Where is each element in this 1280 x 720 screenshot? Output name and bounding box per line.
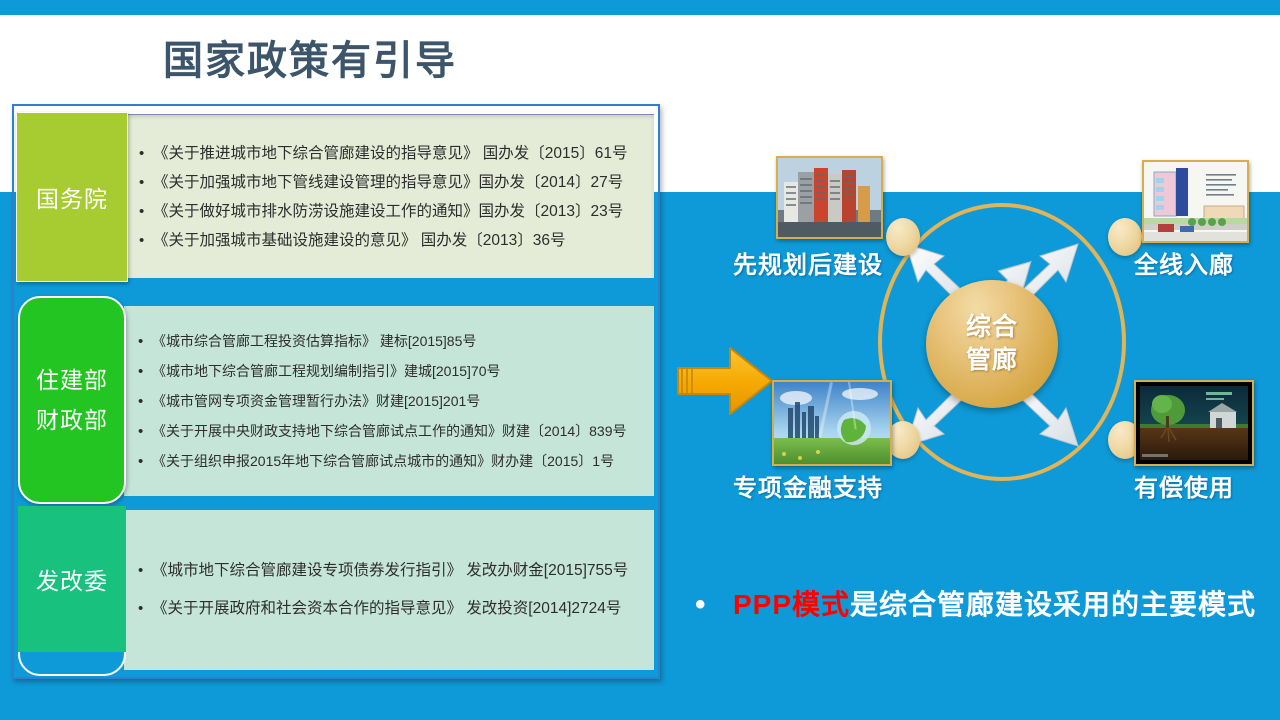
diagram-center-circle: 综合 管廊 <box>926 280 1058 408</box>
cycle-diagram: 综合 管廊 <box>690 140 1280 540</box>
policy-tab-label: 发改委 <box>36 562 108 596</box>
policy-item-text: 《关于做好城市排水防涝设施建设工作的通知》国办发〔2013〕23号 <box>153 197 623 226</box>
list-item: •《城市地下综合管廊建设专项债券发行指引》 发改办财金[2015]755号 <box>138 552 648 590</box>
thumbnail-underground-soil-scene <box>1134 380 1254 466</box>
policy-item-text: 《关于加强城市地下管线建设管理的指导意见》国办发〔2014〕27号 <box>153 168 623 197</box>
list-item: •《关于组织申报2015年地下综合管廊试点城市的通知》财办建〔2015〕1号 <box>138 446 648 476</box>
thumbnail-apartment-buildings <box>776 156 883 239</box>
diagram-label-bottom-right: 有偿使用 <box>1134 468 1234 503</box>
list-item: •《关于推进城市地下综合管廊建设的指导意见》 国办发〔2015〕61号 <box>139 139 648 168</box>
list-item: •《关于加强城市基础设施建设的意见》 国办发〔2013〕36号 <box>139 226 648 255</box>
policy-tab-label: 国务院 <box>36 180 108 214</box>
policy-body-state-council: •《关于推进城市地下综合管廊建设的指导意见》 国办发〔2015〕61号 •《关于… <box>124 114 654 278</box>
policy-tab-label-line1: 住建部 <box>36 360 108 400</box>
top-accent-bar <box>0 0 1280 15</box>
policy-item-text: 《关于开展政府和社会资本合作的指导意见》 发改投资[2014]2724号 <box>152 590 621 628</box>
conclusion-highlight: PPP模式 <box>733 589 850 620</box>
policy-item-text: 《关于开展中央财政支持地下综合管廊试点工作的通知》财建〔2014〕839号 <box>152 416 627 446</box>
diagram-center-line2: 管廊 <box>966 344 1018 377</box>
policy-tab-ndrc[interactable]: 发改委 <box>18 506 126 652</box>
policy-item-text: 《城市地下综合管廊工程规划编制指引》建城[2015]70号 <box>152 356 501 386</box>
slide-canvas: 国家政策有引导 •《关于推进城市地下综合管廊建设的指导意见》 国办发〔2015〕… <box>0 0 1280 720</box>
page-title: 国家政策有引导 <box>163 28 457 86</box>
list-item: •《关于开展政府和社会资本合作的指导意见》 发改投资[2014]2724号 <box>138 590 648 628</box>
policy-item-text: 《关于组织申报2015年地下综合管廊试点城市的通知》财办建〔2015〕1号 <box>152 446 614 476</box>
policy-item-text: 《城市综合管廊工程投资估算指标》 建标[2015]85号 <box>152 326 476 356</box>
policy-tab-state-council[interactable]: 国务院 <box>16 112 128 282</box>
list-item: •《关于开展中央财政支持地下综合管廊试点工作的通知》财建〔2014〕839号 <box>138 416 648 446</box>
policy-item-text: 《城市地下综合管廊建设专项债券发行指引》 发改办财金[2015]755号 <box>152 552 628 590</box>
thumbnail-green-city-finance <box>772 380 892 466</box>
conclusion-bullet: •PPP模式是综合管廊建设采用的主要模式 <box>733 584 1263 625</box>
list-item: •《城市地下综合管廊工程规划编制指引》建城[2015]70号 <box>138 356 648 386</box>
list-item: •《关于做好城市排水防涝设施建设工作的通知》国办发〔2013〕23号 <box>139 197 648 226</box>
list-item: •《城市管网专项资金管理暂行办法》财建[2015]201号 <box>138 386 648 416</box>
bullet-marker: • <box>695 584 707 625</box>
diagram-label-top-right: 全线入廊 <box>1134 245 1234 280</box>
policy-tab-mohurd-mof[interactable]: 住建部 财政部 <box>18 296 126 504</box>
conclusion-rest: 是综合管廊建设采用的主要模式 <box>850 589 1256 620</box>
diagram-node-top-left <box>886 218 920 256</box>
diagram-label-bottom-left: 专项金融支持 <box>733 468 883 503</box>
policy-body-ndrc: •《城市地下综合管廊建设专项债券发行指引》 发改办财金[2015]755号 •《… <box>124 510 654 670</box>
policy-body-mohurd-mof: •《城市综合管廊工程投资估算指标》 建标[2015]85号 •《城市地下综合管廊… <box>124 306 654 496</box>
diagram-label-top-left: 先规划后建设 <box>733 245 883 280</box>
policy-item-text: 《城市管网专项资金管理暂行办法》财建[2015]201号 <box>152 386 480 416</box>
policy-item-text: 《关于推进城市地下综合管廊建设的指导意见》 国办发〔2015〕61号 <box>153 139 628 168</box>
policy-panel: •《关于推进城市地下综合管廊建设的指导意见》 国办发〔2015〕61号 •《关于… <box>12 104 660 679</box>
policy-item-text: 《关于加强城市基础设施建设的意见》 国办发〔2013〕36号 <box>153 226 566 255</box>
list-item: •《城市综合管廊工程投资估算指标》 建标[2015]85号 <box>138 326 648 356</box>
list-item: •《关于加强城市地下管线建设管理的指导意见》国办发〔2014〕27号 <box>139 168 648 197</box>
thumbnail-building-plan-drawing <box>1142 160 1249 243</box>
diagram-center-line1: 综合 <box>966 311 1018 344</box>
policy-tab-label-line2: 财政部 <box>36 400 108 440</box>
